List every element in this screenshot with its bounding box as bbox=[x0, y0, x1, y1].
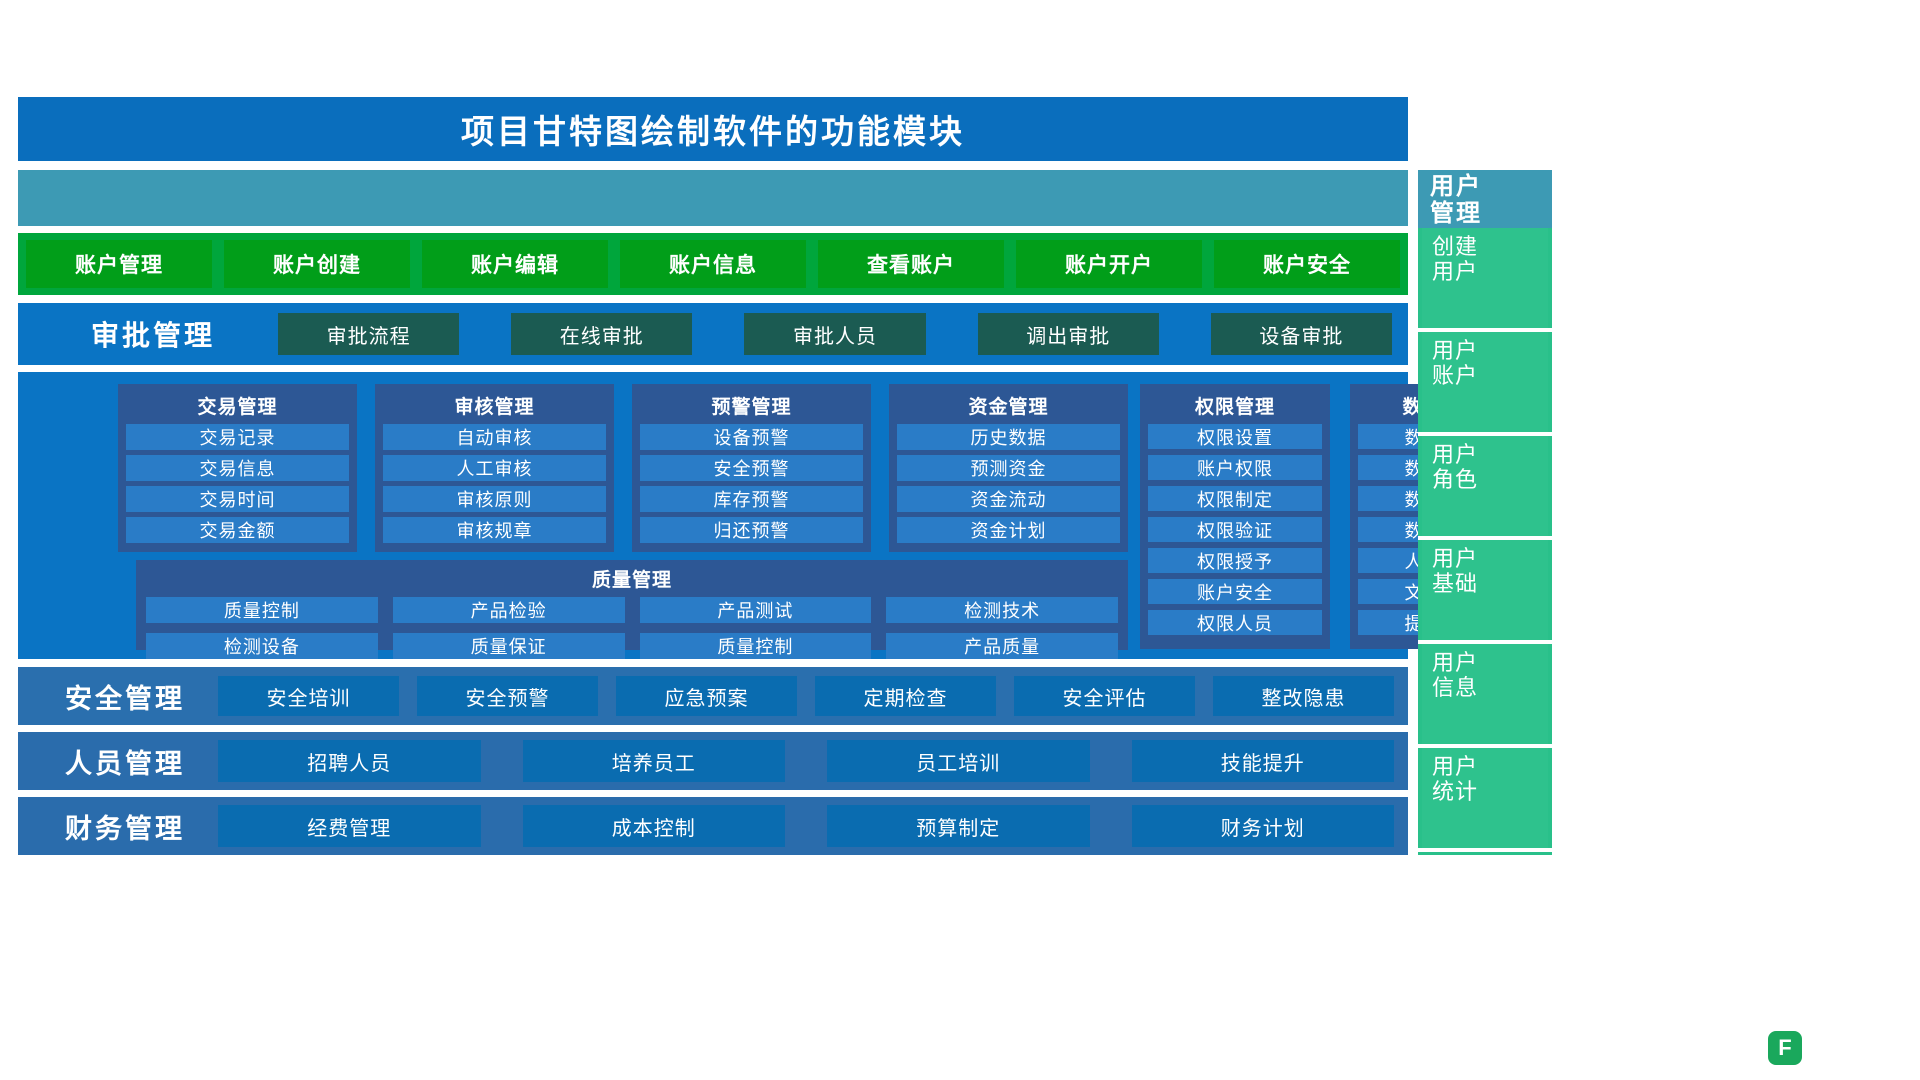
sidebar-item-1[interactable]: 用户账户 bbox=[1422, 332, 1548, 432]
module-card-3: 资金管理历史数据预测资金资金流动资金计划 bbox=[889, 384, 1128, 552]
module-item-1-2[interactable]: 审核原则 bbox=[383, 486, 606, 512]
sidebar-item-5-line1: 用户 bbox=[1432, 754, 1548, 779]
module-item-2-2[interactable]: 库存预警 bbox=[640, 486, 863, 512]
module-card-title-3: 资金管理 bbox=[897, 392, 1120, 419]
module-item-0-1[interactable]: 交易信息 bbox=[126, 455, 349, 481]
safety-management-items: 安全培训安全预警应急预案定期检查安全评估整改隐患 bbox=[218, 676, 1394, 716]
module-item-0-0[interactable]: 交易记录 bbox=[126, 424, 349, 450]
bottom-chip-2-3[interactable]: 财务计划 bbox=[1132, 805, 1395, 847]
personnel-management-label: 人员管理 bbox=[32, 742, 218, 781]
sidebar-item-2[interactable]: 用户角色 bbox=[1422, 436, 1548, 536]
module-item-1-0[interactable]: 自动审核 bbox=[383, 424, 606, 450]
safety-management-label: 安全管理 bbox=[32, 677, 218, 716]
sidebar-item-1-line1: 用户 bbox=[1432, 338, 1548, 363]
bottom-chip-0-4[interactable]: 安全评估 bbox=[1014, 676, 1195, 716]
brand-name: 泛普软件 bbox=[1810, 1031, 1894, 1054]
bottom-chip-0-5[interactable]: 整改隐患 bbox=[1213, 676, 1394, 716]
bottom-chip-0-3[interactable]: 定期检查 bbox=[815, 676, 996, 716]
sidebar-item-5-line2: 统计 bbox=[1432, 779, 1548, 804]
approval-row-label: 审批管理 bbox=[28, 314, 278, 354]
quality-item-4[interactable]: 检测设备 bbox=[146, 633, 378, 659]
bottom-chip-1-2[interactable]: 员工培训 bbox=[827, 740, 1090, 782]
sidebar-item-1-line2: 账户 bbox=[1432, 363, 1548, 388]
approval-chip-3[interactable]: 调出审批 bbox=[978, 313, 1159, 355]
quality-card-title: 质量管理 bbox=[146, 565, 1118, 592]
permission-item-3[interactable]: 权限验证 bbox=[1148, 517, 1322, 542]
finance-management-row: 财务管理 经费管理成本控制预算制定财务计划 bbox=[18, 797, 1408, 855]
account-chip-6[interactable]: 账户安全 bbox=[1214, 240, 1400, 288]
sidebar-header-line2: 管理 bbox=[1430, 201, 1552, 228]
sidebar-item-3-line2: 基础 bbox=[1432, 571, 1548, 596]
bottom-chip-1-0[interactable]: 招聘人员 bbox=[218, 740, 481, 782]
account-chip-2[interactable]: 账户编辑 bbox=[422, 240, 608, 288]
sidebar-item-3[interactable]: 用户基础 bbox=[1422, 540, 1548, 640]
sidebar-item-4-line2: 信息 bbox=[1432, 675, 1548, 700]
account-chip-0[interactable]: 账户管理 bbox=[26, 240, 212, 288]
module-card-0: 交易管理交易记录交易信息交易时间交易金额 bbox=[118, 384, 357, 552]
sidebar-item-2-line2: 角色 bbox=[1432, 467, 1548, 492]
quality-item-0[interactable]: 质量控制 bbox=[146, 597, 378, 623]
account-chip-3[interactable]: 账户信息 bbox=[620, 240, 806, 288]
bottom-chip-2-2[interactable]: 预算制定 bbox=[827, 805, 1090, 847]
brand-logo-icon: F bbox=[1768, 1031, 1802, 1065]
approval-chip-2[interactable]: 审批人员 bbox=[744, 313, 925, 355]
quality-item-6[interactable]: 质量控制 bbox=[640, 633, 872, 659]
module-item-2-1[interactable]: 安全预警 bbox=[640, 455, 863, 481]
sidebar-item-0-line1: 创建 bbox=[1432, 234, 1548, 259]
module-item-3-3[interactable]: 资金计划 bbox=[897, 517, 1120, 543]
module-card-1: 审核管理自动审核人工审核审核原则审核规章 bbox=[375, 384, 614, 552]
teal-spacer-band bbox=[18, 170, 1408, 226]
bottom-chip-0-0[interactable]: 安全培训 bbox=[218, 676, 399, 716]
module-card-2: 预警管理设备预警安全预警库存预警归还预警 bbox=[632, 384, 871, 552]
quality-items-grid: 质量控制产品检验产品测试检测技术检测设备质量保证质量控制产品质量 bbox=[146, 597, 1118, 659]
module-item-1-1[interactable]: 人工审核 bbox=[383, 455, 606, 481]
brand-watermark: F 泛普软件 lanpusoft.com bbox=[1768, 1031, 1894, 1066]
account-chip-4[interactable]: 查看账户 bbox=[818, 240, 1004, 288]
approval-chip-1[interactable]: 在线审批 bbox=[511, 313, 692, 355]
permission-item-5[interactable]: 账户安全 bbox=[1148, 579, 1322, 604]
diagram-canvas: 项目甘特图绘制软件的功能模块 泛普软件 FANPU SOFTWARE 账户管理账… bbox=[0, 0, 1920, 1080]
approval-management-row: 审批管理 审批流程在线审批审批人员调出审批设备审批 bbox=[18, 303, 1408, 365]
account-management-row: 账户管理账户创建账户编辑账户信息查看账户账户开户账户安全 bbox=[18, 233, 1408, 295]
account-chip-5[interactable]: 账户开户 bbox=[1016, 240, 1202, 288]
finance-management-items: 经费管理成本控制预算制定财务计划 bbox=[218, 805, 1394, 847]
module-item-1-3[interactable]: 审核规章 bbox=[383, 517, 606, 543]
brand-url: lanpusoft.com bbox=[1810, 1054, 1894, 1066]
sidebar-item-0[interactable]: 创建用户 bbox=[1422, 228, 1548, 328]
quality-item-2[interactable]: 产品测试 bbox=[640, 597, 872, 623]
bottom-chip-1-1[interactable]: 培养员工 bbox=[523, 740, 786, 782]
user-management-sidebar: 用户 管理 创建用户用户账户用户角色用户基础用户信息用户统计 bbox=[1418, 170, 1552, 855]
account-chip-1[interactable]: 账户创建 bbox=[224, 240, 410, 288]
bottom-chip-2-0[interactable]: 经费管理 bbox=[218, 805, 481, 847]
permission-item-1[interactable]: 账户权限 bbox=[1148, 455, 1322, 480]
module-card-title-2: 预警管理 bbox=[640, 392, 863, 419]
permission-card-title: 权限管理 bbox=[1148, 392, 1322, 419]
sidebar-item-5[interactable]: 用户统计 bbox=[1422, 748, 1548, 848]
module-card-title-0: 交易管理 bbox=[126, 392, 349, 419]
quality-item-5[interactable]: 质量保证 bbox=[393, 633, 625, 659]
sidebar-item-2-line1: 用户 bbox=[1432, 442, 1548, 467]
module-item-2-0[interactable]: 设备预警 bbox=[640, 424, 863, 450]
permission-item-0[interactable]: 权限设置 bbox=[1148, 424, 1322, 449]
quality-item-1[interactable]: 产品检验 bbox=[393, 597, 625, 623]
brand-text: 泛普软件 lanpusoft.com bbox=[1810, 1031, 1894, 1066]
sidebar-item-4[interactable]: 用户信息 bbox=[1422, 644, 1548, 744]
module-item-3-0[interactable]: 历史数据 bbox=[897, 424, 1120, 450]
module-item-0-2[interactable]: 交易时间 bbox=[126, 486, 349, 512]
module-item-2-3[interactable]: 归还预警 bbox=[640, 517, 863, 543]
bottom-chip-0-1[interactable]: 安全预警 bbox=[417, 676, 598, 716]
safety-management-row: 安全管理 安全培训安全预警应急预案定期检查安全评估整改隐患 bbox=[18, 667, 1408, 725]
bottom-chip-0-2[interactable]: 应急预案 bbox=[616, 676, 797, 716]
permission-management-card: 权限管理 权限设置账户权限权限制定权限验证权限授予账户安全权限人员 bbox=[1140, 384, 1330, 649]
permission-item-2[interactable]: 权限制定 bbox=[1148, 486, 1322, 511]
module-columns: 交易管理交易记录交易信息交易时间交易金额审核管理自动审核人工审核审核原则审核规章… bbox=[118, 384, 1128, 552]
page-title-bar: 项目甘特图绘制软件的功能模块 bbox=[18, 97, 1408, 161]
sidebar-separator-5 bbox=[1418, 848, 1552, 852]
sidebar-item-3-line1: 用户 bbox=[1432, 546, 1548, 571]
permission-card-items: 权限设置账户权限权限制定权限验证权限授予账户安全权限人员 bbox=[1148, 424, 1322, 635]
quality-item-3[interactable]: 检测技术 bbox=[886, 597, 1118, 623]
module-item-3-1[interactable]: 预测资金 bbox=[897, 455, 1120, 481]
module-item-0-3[interactable]: 交易金额 bbox=[126, 517, 349, 543]
bottom-chip-2-1[interactable]: 成本控制 bbox=[523, 805, 786, 847]
module-item-3-2[interactable]: 资金流动 bbox=[897, 486, 1120, 512]
permission-item-6[interactable]: 权限人员 bbox=[1148, 610, 1322, 635]
main-modules-panel: 交易管理交易记录交易信息交易时间交易金额审核管理自动审核人工审核审核原则审核规章… bbox=[18, 372, 1408, 659]
finance-management-label: 财务管理 bbox=[32, 807, 218, 846]
personnel-management-items: 招聘人员培养员工员工培训技能提升 bbox=[218, 740, 1394, 782]
permission-item-4[interactable]: 权限授予 bbox=[1148, 548, 1322, 573]
page-title: 项目甘特图绘制软件的功能模块 bbox=[461, 105, 965, 153]
sidebar-item-4-line1: 用户 bbox=[1432, 650, 1548, 675]
approval-chip-4[interactable]: 设备审批 bbox=[1211, 313, 1392, 355]
bottom-chip-1-3[interactable]: 技能提升 bbox=[1132, 740, 1395, 782]
module-card-title-1: 审核管理 bbox=[383, 392, 606, 419]
sidebar-header: 用户 管理 bbox=[1418, 170, 1552, 228]
sidebar-item-0-line2: 用户 bbox=[1432, 259, 1548, 284]
approval-chip-0[interactable]: 审批流程 bbox=[278, 313, 459, 355]
sidebar-header-line1: 用户 bbox=[1430, 174, 1552, 201]
quality-item-7[interactable]: 产品质量 bbox=[886, 633, 1118, 659]
approval-items: 审批流程在线审批审批人员调出审批设备审批 bbox=[278, 313, 1398, 355]
quality-management-card: 质量管理 质量控制产品检验产品测试检测技术检测设备质量保证质量控制产品质量 bbox=[136, 560, 1128, 650]
personnel-management-row: 人员管理 招聘人员培养员工员工培训技能提升 bbox=[18, 732, 1408, 790]
